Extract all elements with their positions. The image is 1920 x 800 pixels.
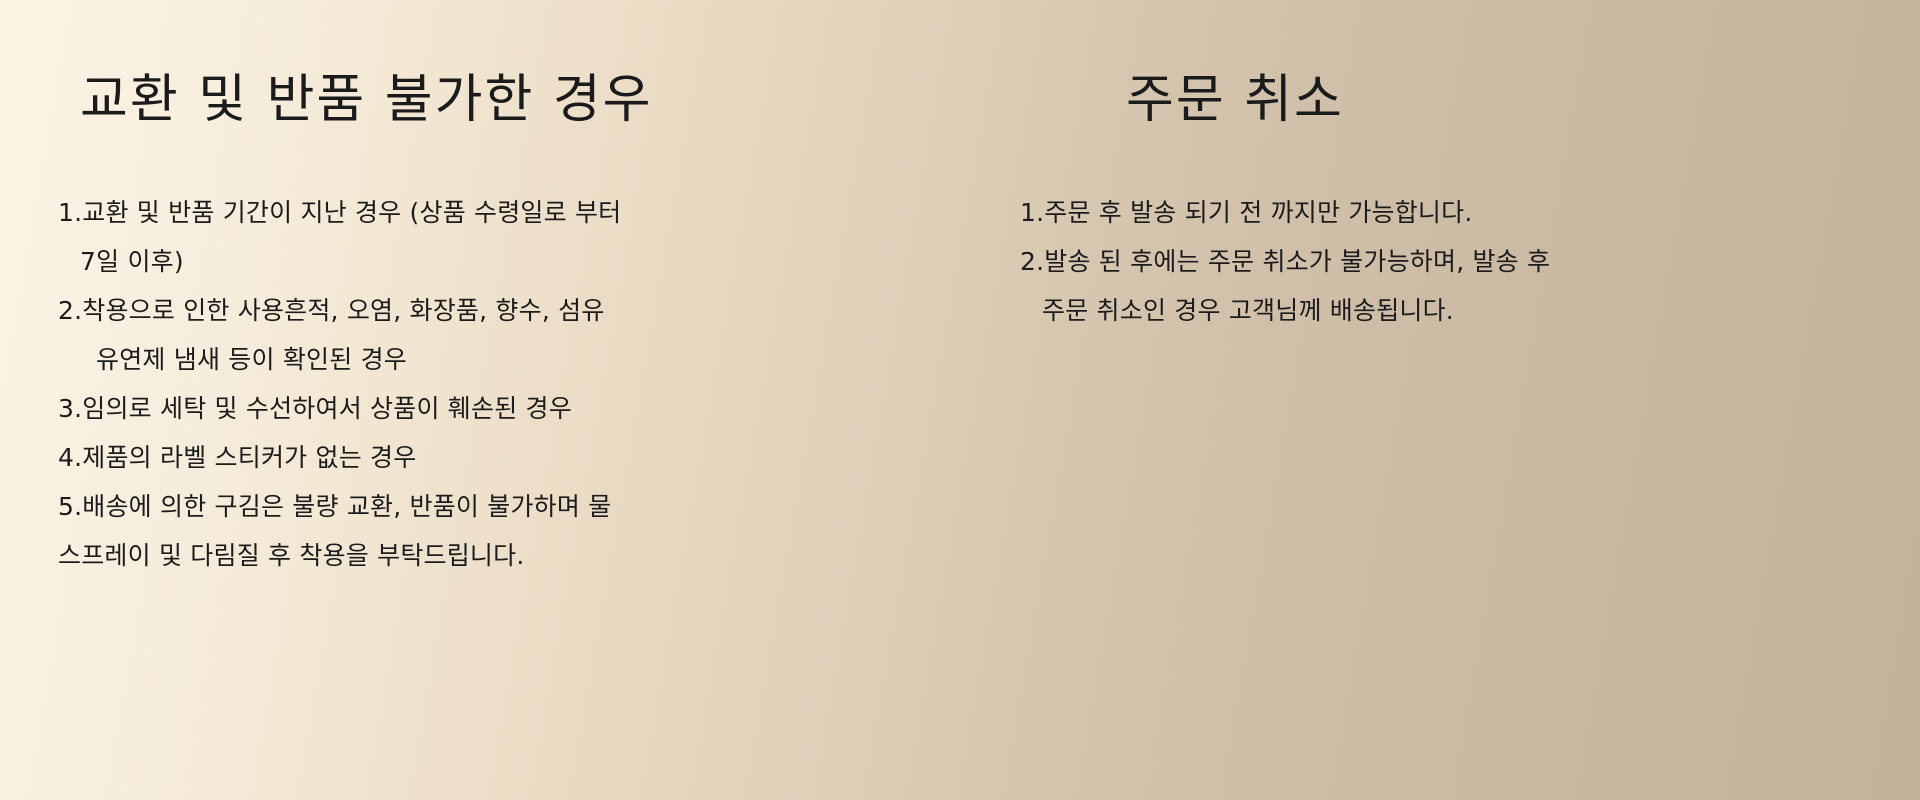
exchange-return-line: 7일 이후) [58,237,758,286]
exchange-return-heading: 교환 및 반품 불가한 경우 [80,74,653,126]
exchange-return-line: 4.제품의 라벨 스티커가 없는 경우 [58,433,758,482]
exchange-return-list: 1.교환 및 반품 기간이 지난 경우 (상품 수령일로 부터7일 이후)2.착… [58,188,758,580]
exchange-return-line: 1.교환 및 반품 기간이 지난 경우 (상품 수령일로 부터 [58,188,758,237]
return-policy-banner: 교환 및 반품 불가한 경우 1.교환 및 반품 기간이 지난 경우 (상품 수… [0,0,1920,800]
order-cancel-line: 1.주문 후 발송 되기 전 까지만 가능합니다. [1020,188,1700,237]
exchange-return-line: 유연제 냄새 등이 확인된 경우 [58,335,758,384]
exchange-return-line: 스프레이 및 다림질 후 착용을 부탁드립니다. [58,531,758,580]
order-cancel-column: 주문 취소 1.주문 후 발송 되기 전 까지만 가능합니다.2.발송 된 후에… [1010,0,1920,800]
policy-columns: 교환 및 반품 불가한 경우 1.교환 및 반품 기간이 지난 경우 (상품 수… [0,0,1920,800]
exchange-return-line: 3.임의로 세탁 및 수선하여서 상품이 훼손된 경우 [58,384,758,433]
exchange-return-column: 교환 및 반품 불가한 경우 1.교환 및 반품 기간이 지난 경우 (상품 수… [0,0,1010,800]
order-cancel-line: 주문 취소인 경우 고객님께 배송됩니다. [1020,286,1700,335]
exchange-return-line: 5.배송에 의한 구김은 불량 교환, 반품이 불가하며 물 [58,482,758,531]
order-cancel-line: 2.발송 된 후에는 주문 취소가 불가능하며, 발송 후 [1020,237,1700,286]
order-cancel-heading: 주문 취소 [1126,74,1344,126]
exchange-return-line: 2.착용으로 인한 사용흔적, 오염, 화장품, 향수, 섬유 [58,286,758,335]
order-cancel-list: 1.주문 후 발송 되기 전 까지만 가능합니다.2.발송 된 후에는 주문 취… [1020,188,1700,335]
